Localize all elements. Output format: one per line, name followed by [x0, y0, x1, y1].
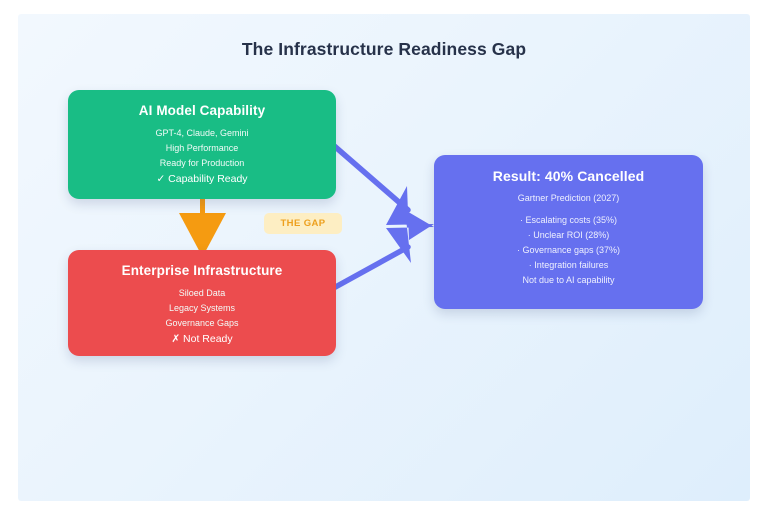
diagram-canvas: The Infrastructure Readiness Gap AI Mode…	[18, 14, 750, 501]
diagram-stage: The Infrastructure Readiness Gap AI Mode…	[0, 0, 768, 525]
the-gap-label: THE GAP	[280, 218, 325, 229]
capability-line-models: GPT-4, Claude, Gemini	[68, 126, 336, 141]
capability-line-performance: High Performance	[68, 141, 336, 156]
result-line-unclear-roi: · Unclear ROI (28%)	[434, 228, 703, 243]
result-footnote: Not due to AI capability	[434, 273, 703, 288]
infrastructure-status-badge: ✗ Not Ready	[68, 331, 336, 348]
card-enterprise-infrastructure[interactable]: Enterprise Infrastructure Siloed Data Le…	[68, 250, 336, 356]
infrastructure-line-siloed-data: Siloed Data	[68, 286, 336, 301]
card-title-capability: AI Model Capability	[68, 101, 336, 121]
result-line-governance-gaps: · Governance gaps (37%)	[434, 243, 703, 258]
infrastructure-to-result-arrow	[330, 210, 434, 290]
result-line-escalating-costs: · Escalating costs (35%)	[434, 213, 703, 228]
card-title-result: Result: 40% Cancelled	[434, 166, 703, 186]
result-subtitle: Gartner Prediction (2027)	[434, 191, 703, 206]
infrastructure-line-governance-gaps: Governance Gaps	[68, 316, 336, 331]
infrastructure-line-legacy-systems: Legacy Systems	[68, 301, 336, 316]
card-result[interactable]: Result: 40% Cancelled Gartner Prediction…	[434, 155, 703, 309]
card-ai-model-capability[interactable]: AI Model Capability GPT-4, Claude, Gemin…	[68, 90, 336, 199]
capability-to-infrastructure-arrow	[179, 199, 226, 257]
card-title-infrastructure: Enterprise Infrastructure	[68, 261, 336, 281]
capability-line-production: Ready for Production	[68, 156, 336, 171]
the-gap-badge: THE GAP	[264, 213, 342, 234]
capability-status-badge: ✓ Capability Ready	[68, 171, 336, 188]
result-line-integration-failures: · Integration failures	[434, 258, 703, 273]
capability-to-result-arrow	[332, 144, 434, 240]
page-title: The Infrastructure Readiness Gap	[18, 39, 750, 60]
